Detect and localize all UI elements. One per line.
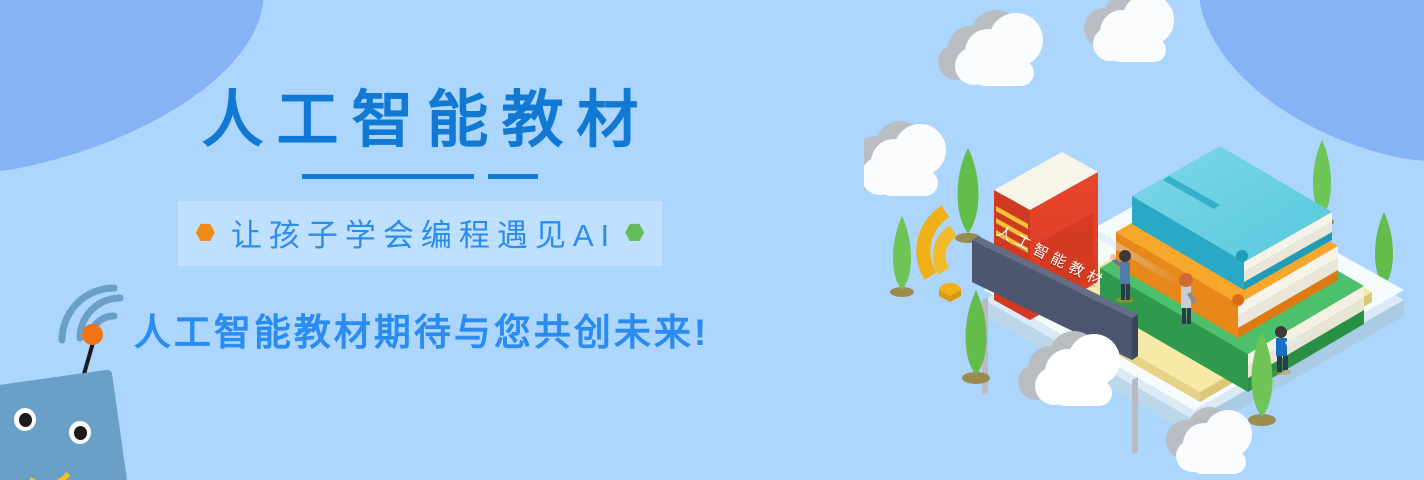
- hexagon-bullet-right-icon: [625, 223, 644, 242]
- cloud-icon: [938, 10, 1043, 86]
- divider-short-rule: [488, 174, 538, 179]
- subtitle-badge: 让孩子学会编程遇见AI: [178, 201, 662, 266]
- ai-textbook-banner: 人工智能教材 让孩子学会编程遇见AI 人工智能教材期待与您共创未来!: [0, 0, 1424, 480]
- tree-icon: [890, 216, 914, 297]
- tree-icon: [955, 148, 981, 243]
- divider-long-rule: [302, 174, 474, 179]
- isometric-books-illustration: 人工智能教材: [864, 0, 1424, 480]
- robot-antenna-ball-icon: [82, 324, 103, 345]
- cloud-icon: [864, 121, 946, 196]
- hexagon-bullet-left-icon: [196, 223, 215, 242]
- cloud-icon: [1084, 0, 1174, 62]
- robot-pupil-right: [74, 426, 87, 440]
- page-title: 人工智能教材: [0, 88, 840, 155]
- robot-pupil-left: [19, 413, 32, 427]
- subtitle-text: 让孩子学会编程遇见AI: [224, 210, 616, 255]
- ai-robot-mascot: [0, 256, 202, 480]
